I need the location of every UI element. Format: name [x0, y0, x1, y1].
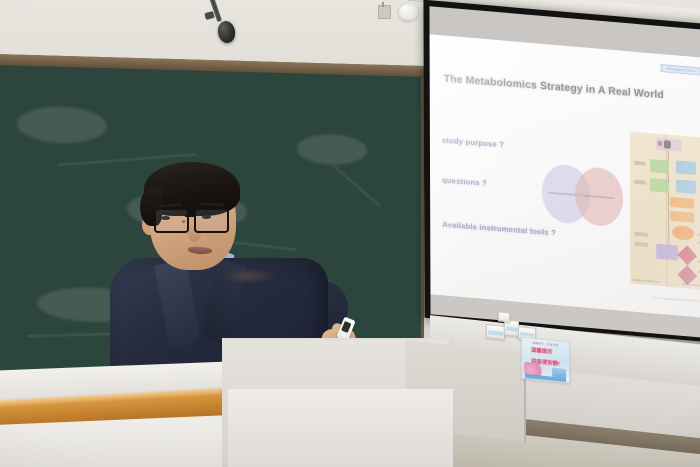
slide-credit: Lu, H. Mass Spectrometry Rev.	[654, 296, 700, 304]
slide-bullet-2: questions ?	[442, 176, 487, 188]
workflow-diagram-thumbnail: untargeted metabolomics targeted metabol…	[630, 131, 700, 290]
venn-circle-targeted: targeted Metabolomics	[575, 166, 623, 228]
flow-label-right: targeted metabolomics	[682, 283, 700, 288]
lectern-box-4	[498, 311, 510, 322]
slide-bullet-1: study purpose ?	[442, 136, 504, 150]
flow-label-left: untargeted metabolomics	[632, 279, 659, 284]
presentation-slide: Metabolomics Group The Metabolomics Stra…	[430, 34, 700, 318]
poster-line-1: 温馨提示	[531, 348, 566, 358]
lecture-hall-photo: Metabolomics Group The Metabolomics Stra…	[0, 0, 700, 467]
slide-bullet-3: Available instrumental tools ?	[442, 220, 556, 238]
projection-screen: Metabolomics Group The Metabolomics Stra…	[423, 0, 700, 342]
notice-poster: 温馨提示 · 防疫须知 温馨提示 讲座请安静!	[521, 336, 570, 383]
ceiling-speaker-icon	[399, 4, 418, 20]
eyeglasses-icon	[154, 208, 238, 230]
ceiling-bracket	[378, 5, 391, 19]
slide-title: The Metabolomics Strategy in A Real Worl…	[444, 73, 684, 103]
lectern-box-1	[486, 324, 505, 340]
venn-diagram: untargeted Metabolomics targeted Metabol…	[542, 163, 624, 230]
remote-buttons-icon[interactable]	[341, 321, 351, 333]
lectern-front	[228, 389, 453, 467]
slide-corner-tag: Metabolomics Group	[661, 64, 700, 75]
